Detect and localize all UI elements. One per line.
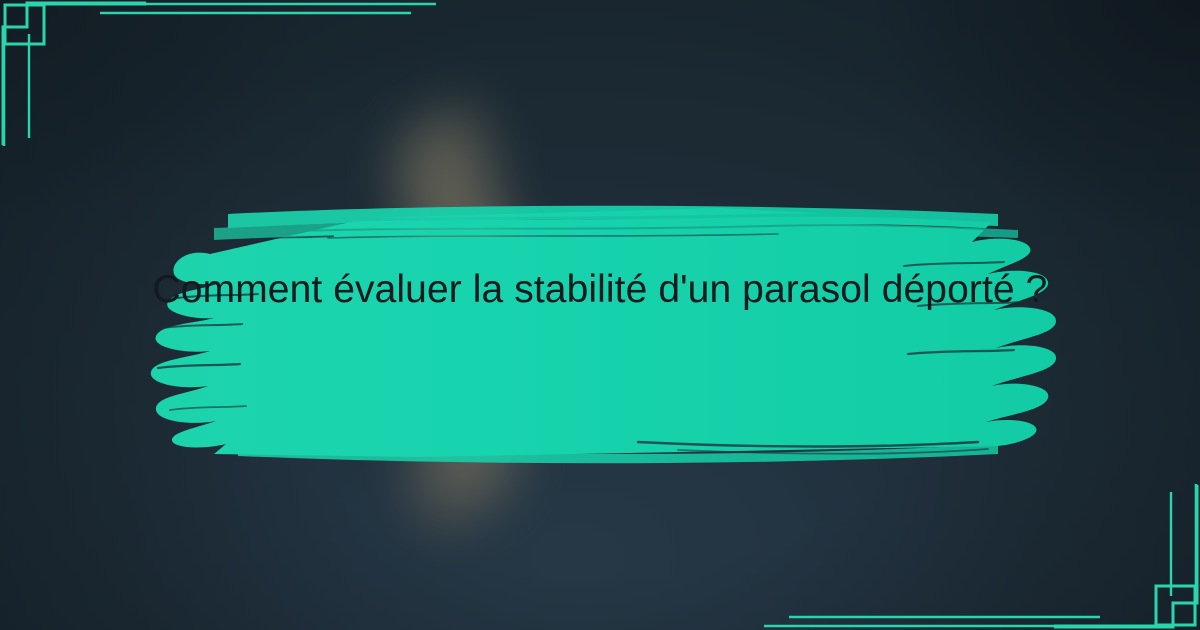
brush-stroke-body [78,148,1120,498]
brush-stroke [118,178,1080,458]
share-card-canvas: Comment évaluer la stabilité d'un paraso… [0,0,1200,630]
page-title: Comment évaluer la stabilité d'un paraso… [150,262,1050,317]
